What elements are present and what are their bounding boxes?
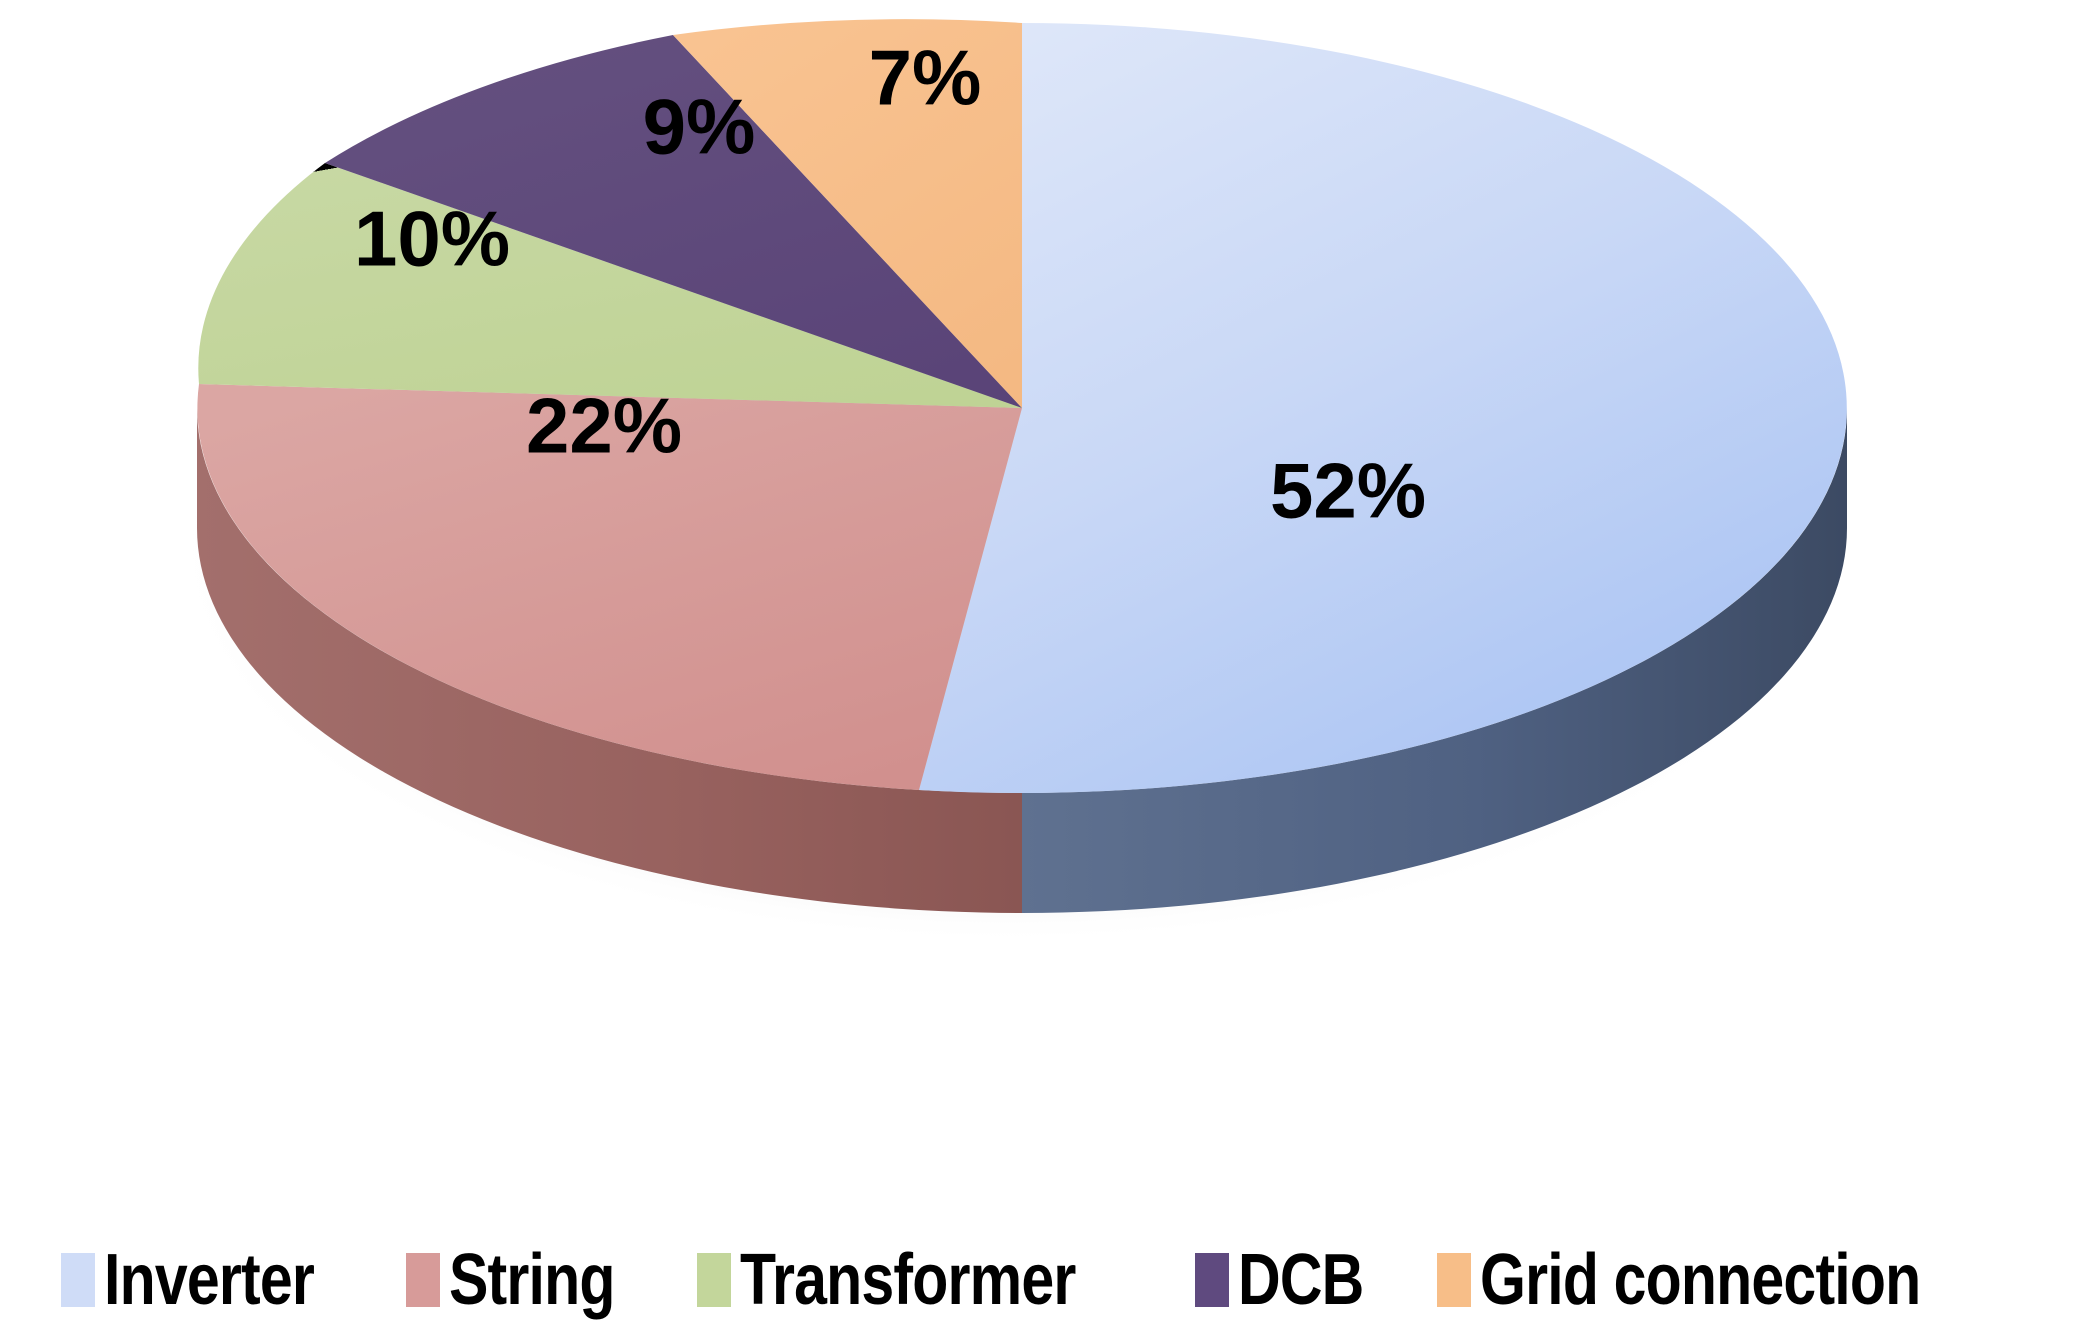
legend-label-dcb: DCB: [1238, 1244, 1363, 1316]
legend-item-grid-connection[interactable]: Grid connection: [1437, 1244, 2017, 1316]
slice-label-grid-connection: 7%: [869, 34, 982, 122]
legend-item-dcb[interactable]: DCB: [1195, 1244, 1391, 1316]
legend-label-inverter: Inverter: [104, 1244, 314, 1316]
legend-item-string[interactable]: String: [406, 1244, 651, 1316]
slice-label-string: 22%: [526, 382, 682, 470]
legend-item-transformer[interactable]: Transformer: [697, 1244, 1149, 1316]
legend-label-grid-connection: Grid connection: [1480, 1244, 1920, 1316]
chart-legend: Inverter String Transformer DCB Grid con…: [0, 1244, 2078, 1316]
pie-chart-figure: 52% 22% 10% 9% 7% Inverter String Transf…: [0, 0, 2078, 1326]
legend-swatch-transformer: [697, 1253, 731, 1307]
legend-label-transformer: Transformer: [740, 1244, 1076, 1316]
legend-swatch-dcb: [1195, 1253, 1229, 1307]
legend-swatch-inverter: [61, 1253, 95, 1307]
slice-label-transformer: 10%: [354, 195, 510, 283]
legend-item-inverter[interactable]: Inverter: [61, 1244, 360, 1316]
slice-label-dcb: 9%: [643, 83, 756, 171]
legend-label-string: String: [449, 1244, 615, 1316]
legend-swatch-grid-connection: [1437, 1253, 1471, 1307]
slice-label-inverter: 52%: [1270, 447, 1426, 535]
legend-swatch-string: [406, 1253, 440, 1307]
pie-chart-graphic: 52% 22% 10% 9% 7%: [0, 0, 2078, 1180]
